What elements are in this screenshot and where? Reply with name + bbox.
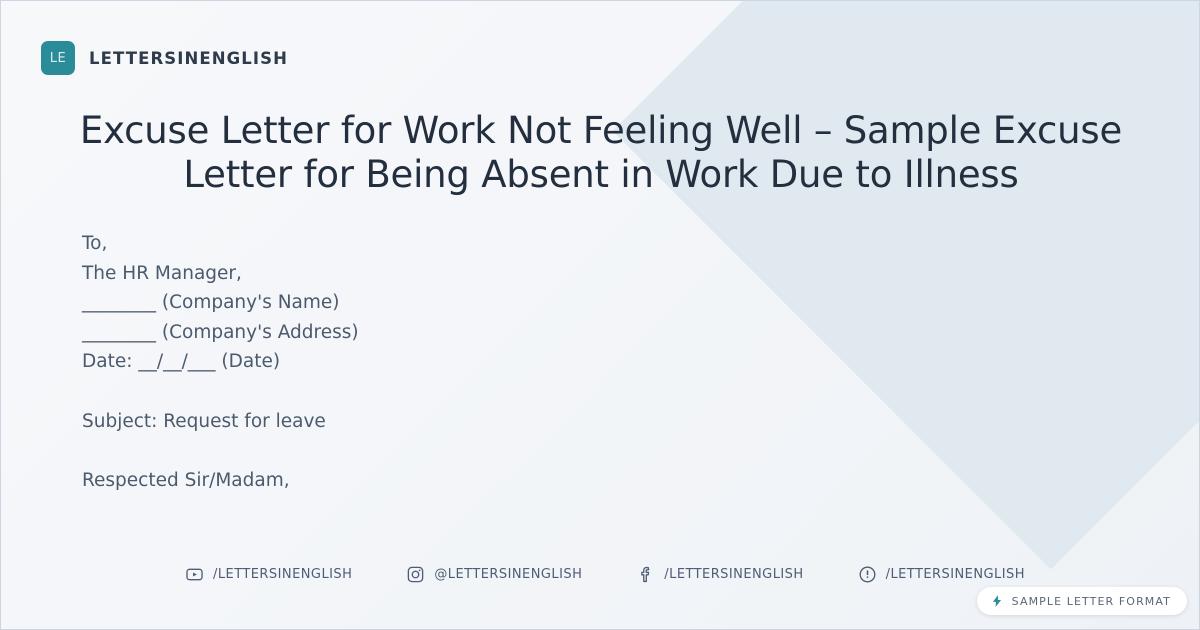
social-handle-label: @LETTERSINENGLISH bbox=[434, 567, 582, 582]
brand-logo[interactable]: LE LETTERSINENGLISH bbox=[41, 41, 288, 75]
brand-monogram-icon: LE bbox=[41, 41, 75, 75]
social-share-card: LE LETTERSINENGLISH Excuse Letter for Wo… bbox=[0, 0, 1200, 630]
pinterest-icon bbox=[858, 565, 877, 584]
social-link-instagram[interactable]: @LETTERSINENGLISH bbox=[406, 565, 582, 584]
social-handle-label: /LETTERSINENGLISH bbox=[213, 567, 352, 582]
letter-line: To, bbox=[82, 229, 782, 259]
facebook-icon bbox=[636, 565, 655, 584]
letter-line: Respected Sir/Madam, bbox=[82, 466, 782, 496]
letter-line: ________ (Company's Name) bbox=[82, 288, 782, 318]
social-links-row: /LETTERSINENGLISH @LETTERSINENGLISH /LET… bbox=[1, 565, 1200, 584]
letter-line: Date: __/__/___ (Date) bbox=[82, 347, 782, 377]
page-title: Excuse Letter for Work Not Feeling Well … bbox=[61, 109, 1141, 196]
letter-line: Subject: Request for leave bbox=[82, 407, 782, 437]
social-link-pinterest[interactable]: /LETTERSINENGLISH bbox=[858, 565, 1025, 584]
letter-line: The HR Manager, bbox=[82, 259, 782, 289]
youtube-icon bbox=[185, 565, 204, 584]
social-handle-label: /LETTERSINENGLISH bbox=[886, 567, 1025, 582]
social-link-youtube[interactable]: /LETTERSINENGLISH bbox=[185, 565, 352, 584]
social-link-facebook[interactable]: /LETTERSINENGLISH bbox=[636, 565, 803, 584]
instagram-icon bbox=[406, 565, 425, 584]
social-handle-label: /LETTERSINENGLISH bbox=[664, 567, 803, 582]
sample-letter-format-badge[interactable]: SAMPLE LETTER FORMAT bbox=[977, 587, 1187, 615]
badge-label: SAMPLE LETTER FORMAT bbox=[1012, 595, 1171, 608]
brand-name: LETTERSINENGLISH bbox=[89, 49, 288, 68]
letter-spacer bbox=[82, 377, 782, 407]
letter-spacer bbox=[82, 436, 782, 466]
bolt-icon bbox=[990, 594, 1004, 608]
letter-line: ________ (Company's Address) bbox=[82, 318, 782, 348]
letter-body: To, The HR Manager, ________ (Company's … bbox=[82, 229, 782, 495]
